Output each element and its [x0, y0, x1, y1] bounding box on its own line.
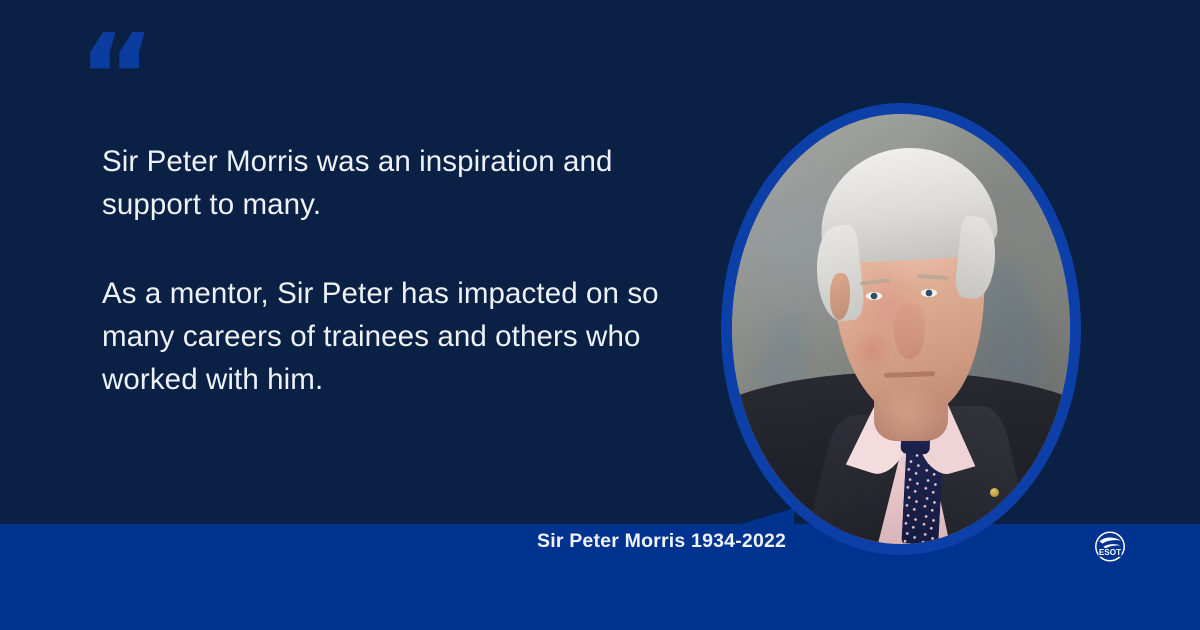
tribute-quote-card: “ Sir Peter Morris was an inspiration an… [0, 0, 1200, 630]
esot-logo-text: ESOT [1099, 548, 1121, 557]
chin [867, 389, 948, 441]
lapel-pin-icon [990, 488, 999, 497]
portrait-photo [732, 114, 1070, 544]
portrait-clip [732, 114, 1070, 544]
quote-text-block: Sir Peter Morris was an inspiration and … [102, 140, 702, 401]
esot-globe-icon[interactable]: ESOT [1090, 527, 1130, 567]
quote-paragraph-2: As a mentor, Sir Peter has impacted on s… [102, 272, 702, 401]
quotation-mark-icon: “ [78, 18, 154, 136]
quote-paragraph-1: Sir Peter Morris was an inspiration and … [102, 140, 702, 226]
portrait-of-sir-peter-morris [721, 103, 1081, 555]
cheek [850, 329, 894, 372]
nose [894, 303, 924, 359]
caption-name-dates: Sir Peter Morris 1934-2022 [537, 530, 786, 553]
eye-right [921, 289, 937, 297]
